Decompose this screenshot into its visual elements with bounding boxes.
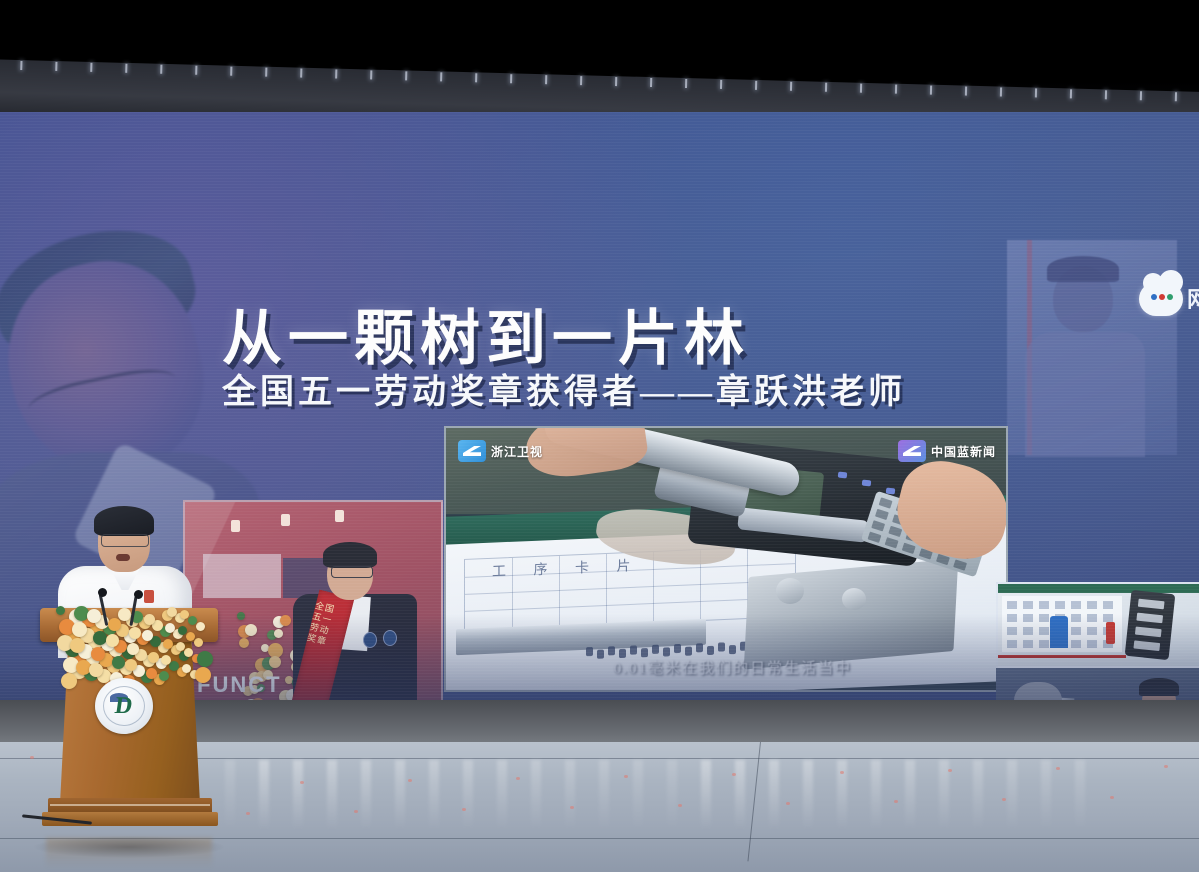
tv-logo-left-label: 浙江卫视 [491,443,543,460]
slide-subtitle: 全国五一劳动奖章获得者——章跃洪老师 [222,364,906,413]
tv-logo-china-blue-news: 中国蓝新闻 [898,440,996,462]
podium-emblem: D [95,678,153,734]
organization-cloud-logo: 网 [1139,270,1199,328]
china-blue-mark-icon [898,440,926,462]
podium-floor-reflection [46,838,212,868]
emblem-letter: D [114,694,135,718]
corner-logo-label: 网 [1187,282,1199,314]
stage-photo: 从一颗树到一片林 全国五一劳动奖章获得者——章跃洪老师 “99分就是不及格品” … [0,0,1199,872]
cloud-icon [1139,282,1183,316]
zhejiang-tv-mark-icon [458,440,486,462]
tv-logo-right-label: 中国蓝新闻 [931,443,996,460]
speaking-podium: D [40,608,218,838]
tv-logo-zhejiang: 浙江卫视 [458,440,543,462]
